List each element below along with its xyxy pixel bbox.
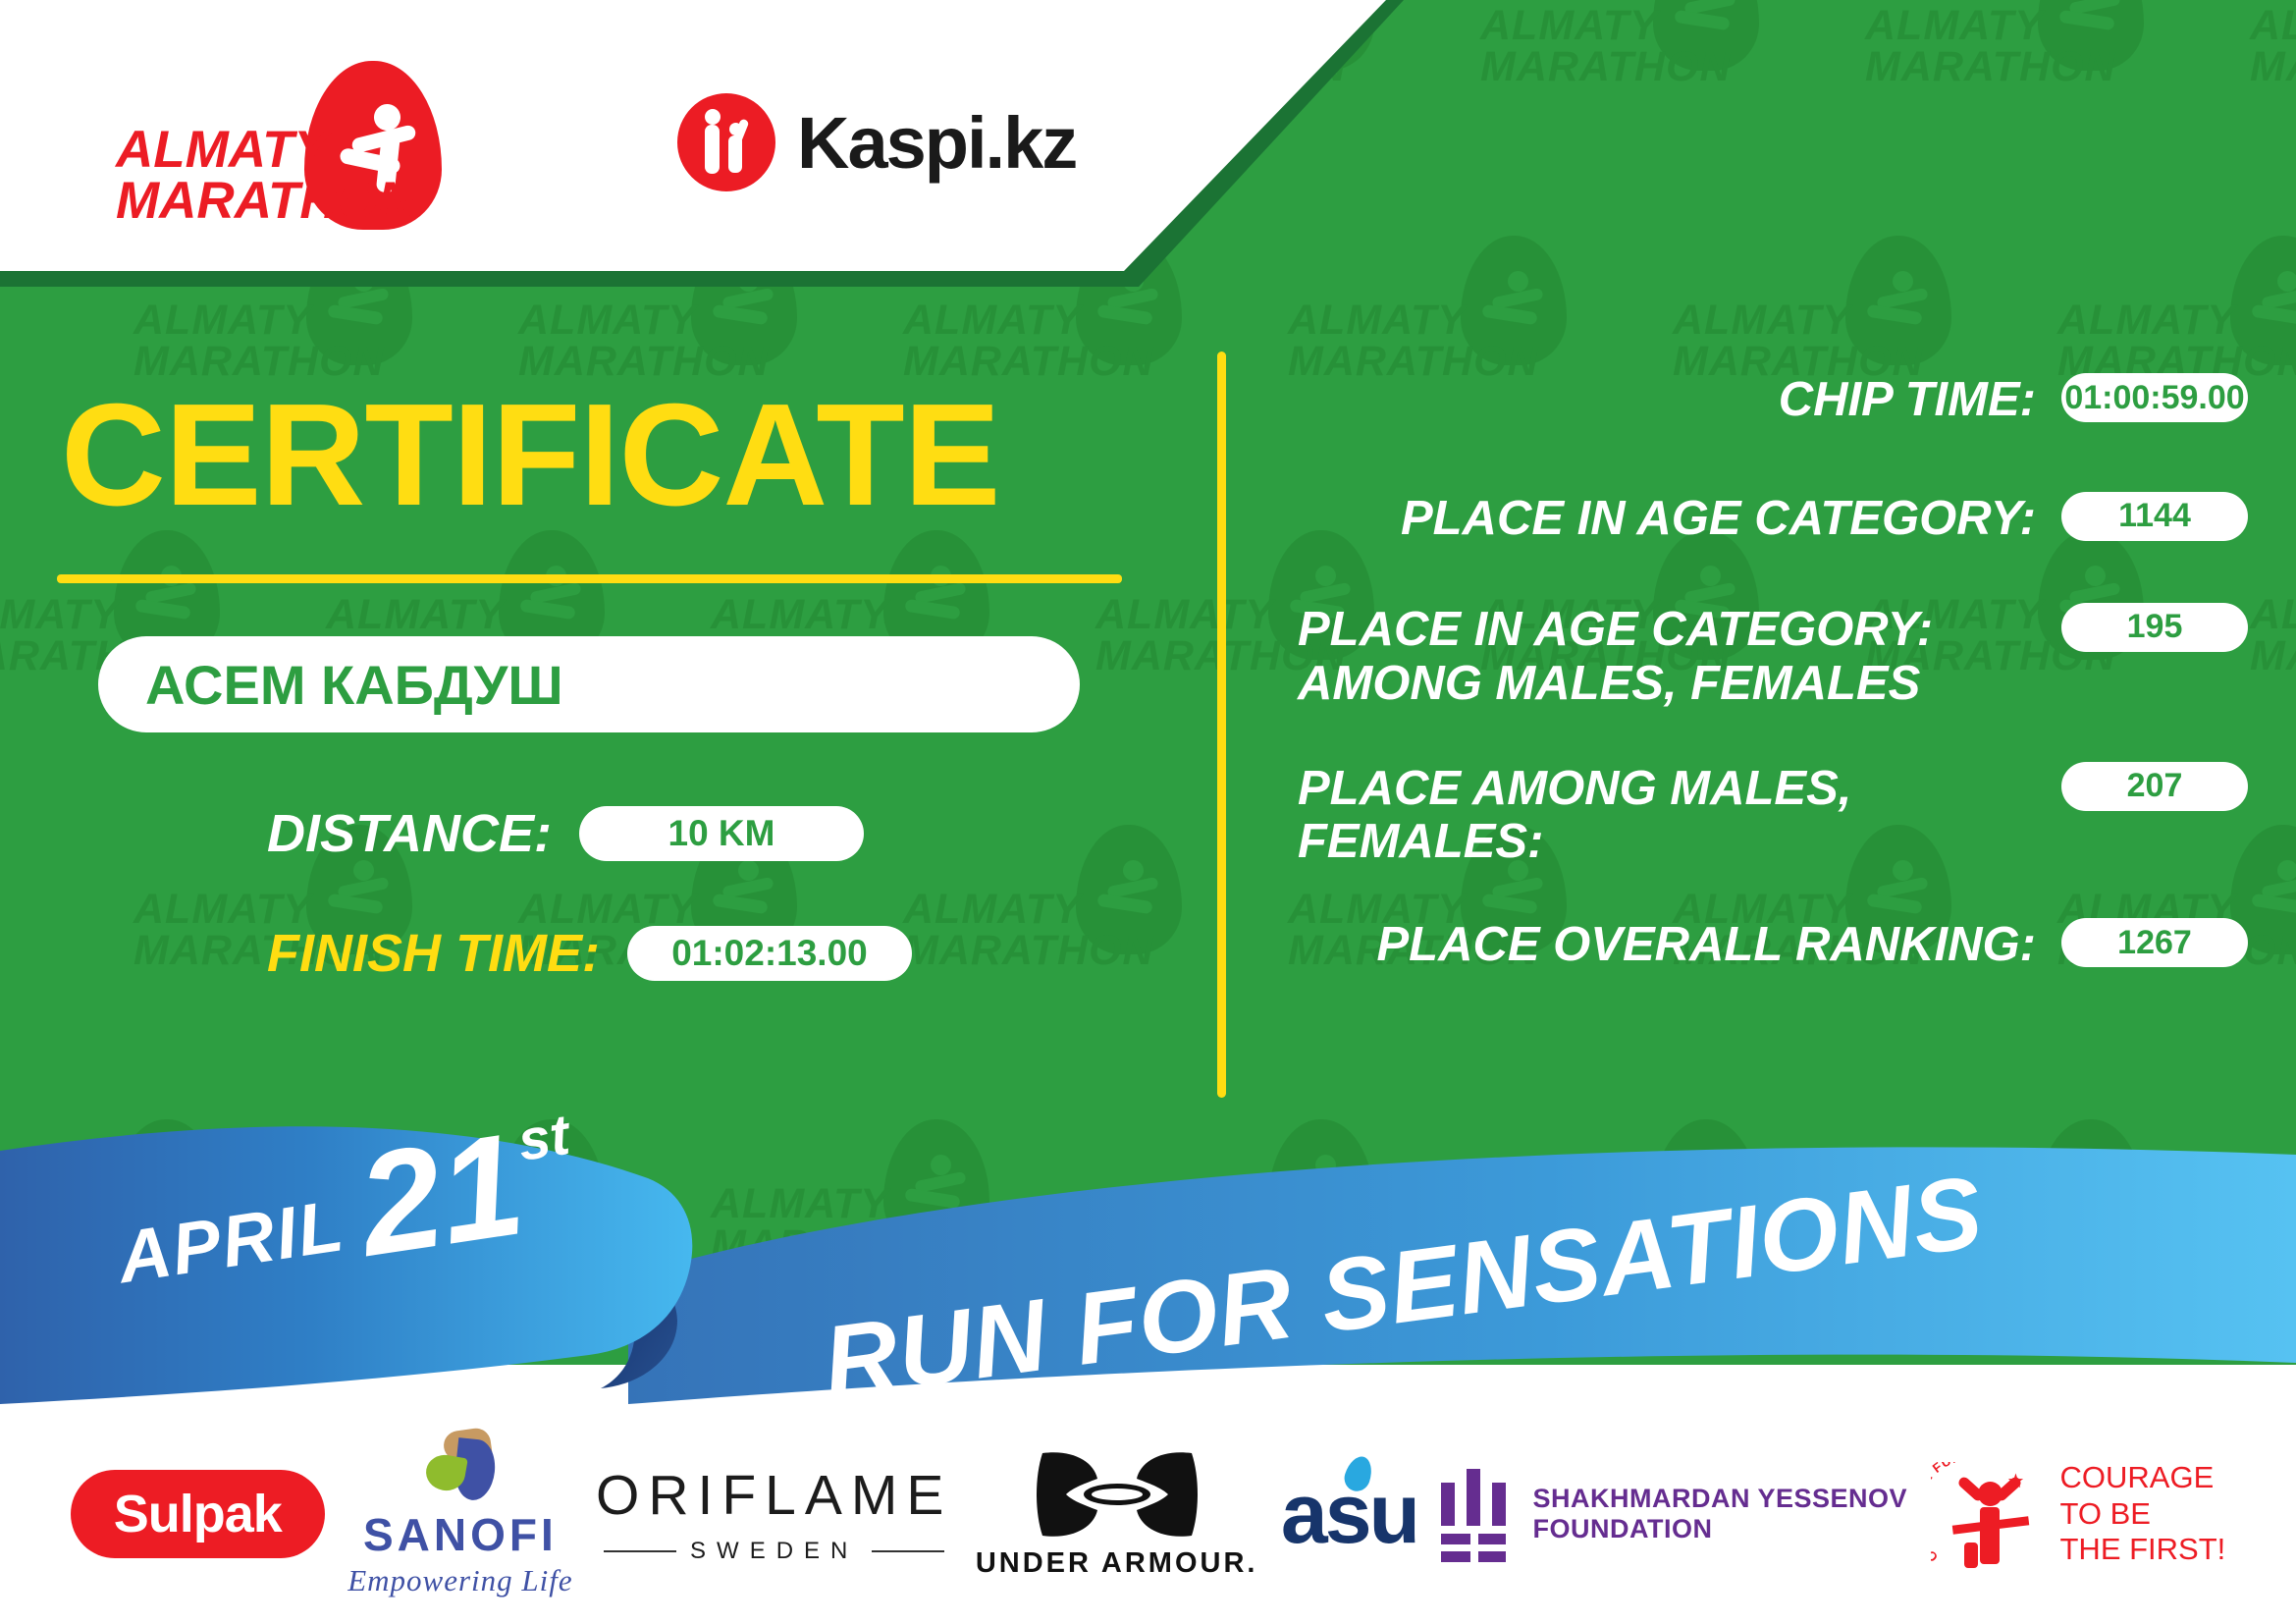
sponsor-sulpak: Sulpak [71,1470,325,1558]
yessenov-bars-icon [1441,1465,1512,1563]
courage-line2: TO BE [2060,1496,2226,1533]
place-age-category-value: 1144 [2061,492,2248,541]
kaspi-logo: Kaspi.kz [677,93,1076,191]
certificate-page: ALMATYMARATHONALMATYMARATHONALMATYMARATH… [0,0,2296,1624]
result-row-place-overall: PLACE OVERALL RANKING: 1267 [1256,918,2248,972]
sanofi-tagline: Empowering Life [347,1563,572,1598]
sponsor-sanofi: SANOFI Empowering Life [347,1430,572,1598]
almaty-marathon-line2: MARATHON [116,175,415,227]
finish-time-label: FINISH TIME: [267,923,600,984]
place-among-gender-label-line2: FEMALES: [1298,815,1851,869]
almaty-marathon-line1: ALMATY [116,124,329,176]
column-divider [1217,352,1226,1098]
courage-runner-icon: CORPORATE FUND ★ [1931,1456,2049,1572]
watermark-almaty-marathon-icon: ALMATYMARATHON [2250,0,2296,152]
place-overall-label: PLACE OVERALL RANKING: [1376,918,2036,972]
finish-time-value: 01:02:13.00 [627,926,912,981]
courage-line1: COURAGE [2060,1460,2226,1496]
place-among-gender-label-line1: PLACE AMONG MALES, [1298,762,1851,816]
under-armour-logo-icon [1033,1449,1201,1540]
header-panel: ALMATY MARATHON Kaspi.kz [0,0,1404,287]
distance-label: DISTANCE: [267,803,552,864]
place-age-category-gender-label-line2: AMONG MALES, FEMALES [1298,657,1933,711]
result-row-chip-time: CHIP TIME: 01:00:59.00 [1256,373,2248,427]
place-among-gender-value: 207 [2061,762,2248,811]
oriflame-tagline: SWEDEN [690,1538,858,1565]
result-row-place-age-category-gender: PLACE IN AGE CATEGORY: AMONG MALES, FEMA… [1256,603,2248,711]
chip-time-label: CHIP TIME: [1779,373,2036,427]
almaty-marathon-logo: ALMATY MARATHON [116,59,440,216]
result-row-place-age-category: PLACE IN AGE CATEGORY: 1144 [1256,492,2248,546]
chip-time-value: 01:00:59.00 [2061,373,2248,422]
place-age-category-label: PLACE IN AGE CATEGORY: [1401,492,2036,546]
sanofi-logo-icon [416,1430,505,1502]
event-day: 21 [352,1122,530,1269]
watermark-almaty-marathon-icon: ALMATYMARATHON [1865,0,2150,152]
sponsor-courage-fund: CORPORATE FUND ★ COURAGE TO BE THE FIRST… [1931,1456,2226,1572]
kaspi-family-circle-icon [677,93,775,191]
place-overall-value: 1267 [2061,918,2248,967]
title-underline [57,574,1122,583]
watermark-almaty-marathon-icon: ALMATYMARATHON [1480,0,1765,152]
results-list: CHIP TIME: 01:00:59.00 PLACE IN AGE CATE… [1256,373,2248,1015]
page-title: CERTIFICATE [61,383,999,528]
result-row-place-among-gender: PLACE AMONG MALES, FEMALES: 207 [1256,762,2248,870]
sponsor-bar: Sulpak SANOFI Empowering Life ORIFLAME S… [0,1404,2296,1624]
under-armour-wordmark: UNDER ARMOUR. [976,1547,1258,1580]
watermark-almaty-marathon-icon: ALMATYMARATHON [903,825,1188,1036]
courage-line3: THE FIRST! [2060,1532,2226,1568]
header-content: ALMATY MARATHON Kaspi.kz [0,0,1386,271]
place-age-category-gender-value: 195 [2061,603,2248,652]
event-day-suffix: st [514,1107,573,1170]
sponsor-yessenov-foundation: SHAKHMARDAN YESSENOV FOUNDATION [1441,1465,1908,1563]
distance-row: DISTANCE: 10 KM [267,803,864,864]
place-among-gender-label: PLACE AMONG MALES, FEMALES: [1298,762,1851,870]
runner-name-value: АСЕМ КАБДУШ [145,653,563,717]
oriflame-tagline-row: SWEDEN [596,1538,952,1565]
runner-name-field: АСЕМ КАБДУШ [98,636,1080,732]
distance-value: 10 KM [579,806,864,861]
place-age-category-gender-label: PLACE IN AGE CATEGORY: AMONG MALES, FEMA… [1298,603,1933,711]
place-age-category-gender-label-line1: PLACE IN AGE CATEGORY: [1298,603,1933,657]
yessenov-line1: SHAKHMARDAN YESSENOV [1533,1484,1908,1514]
watermark-almaty-marathon-icon: ALMATYMARATHON [2250,530,2296,741]
oriflame-wordmark: ORIFLAME [596,1463,952,1528]
sponsor-asu: asu [1281,1466,1417,1563]
sponsor-under-armour: UNDER ARMOUR. [976,1449,1258,1580]
sulpak-wordmark: Sulpak [71,1470,325,1558]
sanofi-wordmark: SANOFI [347,1508,572,1561]
yessenov-line2: FOUNDATION [1533,1514,1908,1544]
finish-time-row: FINISH TIME: 01:02:13.00 [267,923,912,984]
kaspi-wordmark: Kaspi.kz [797,101,1076,185]
sponsor-oriflame: ORIFLAME SWEDEN [596,1463,952,1565]
